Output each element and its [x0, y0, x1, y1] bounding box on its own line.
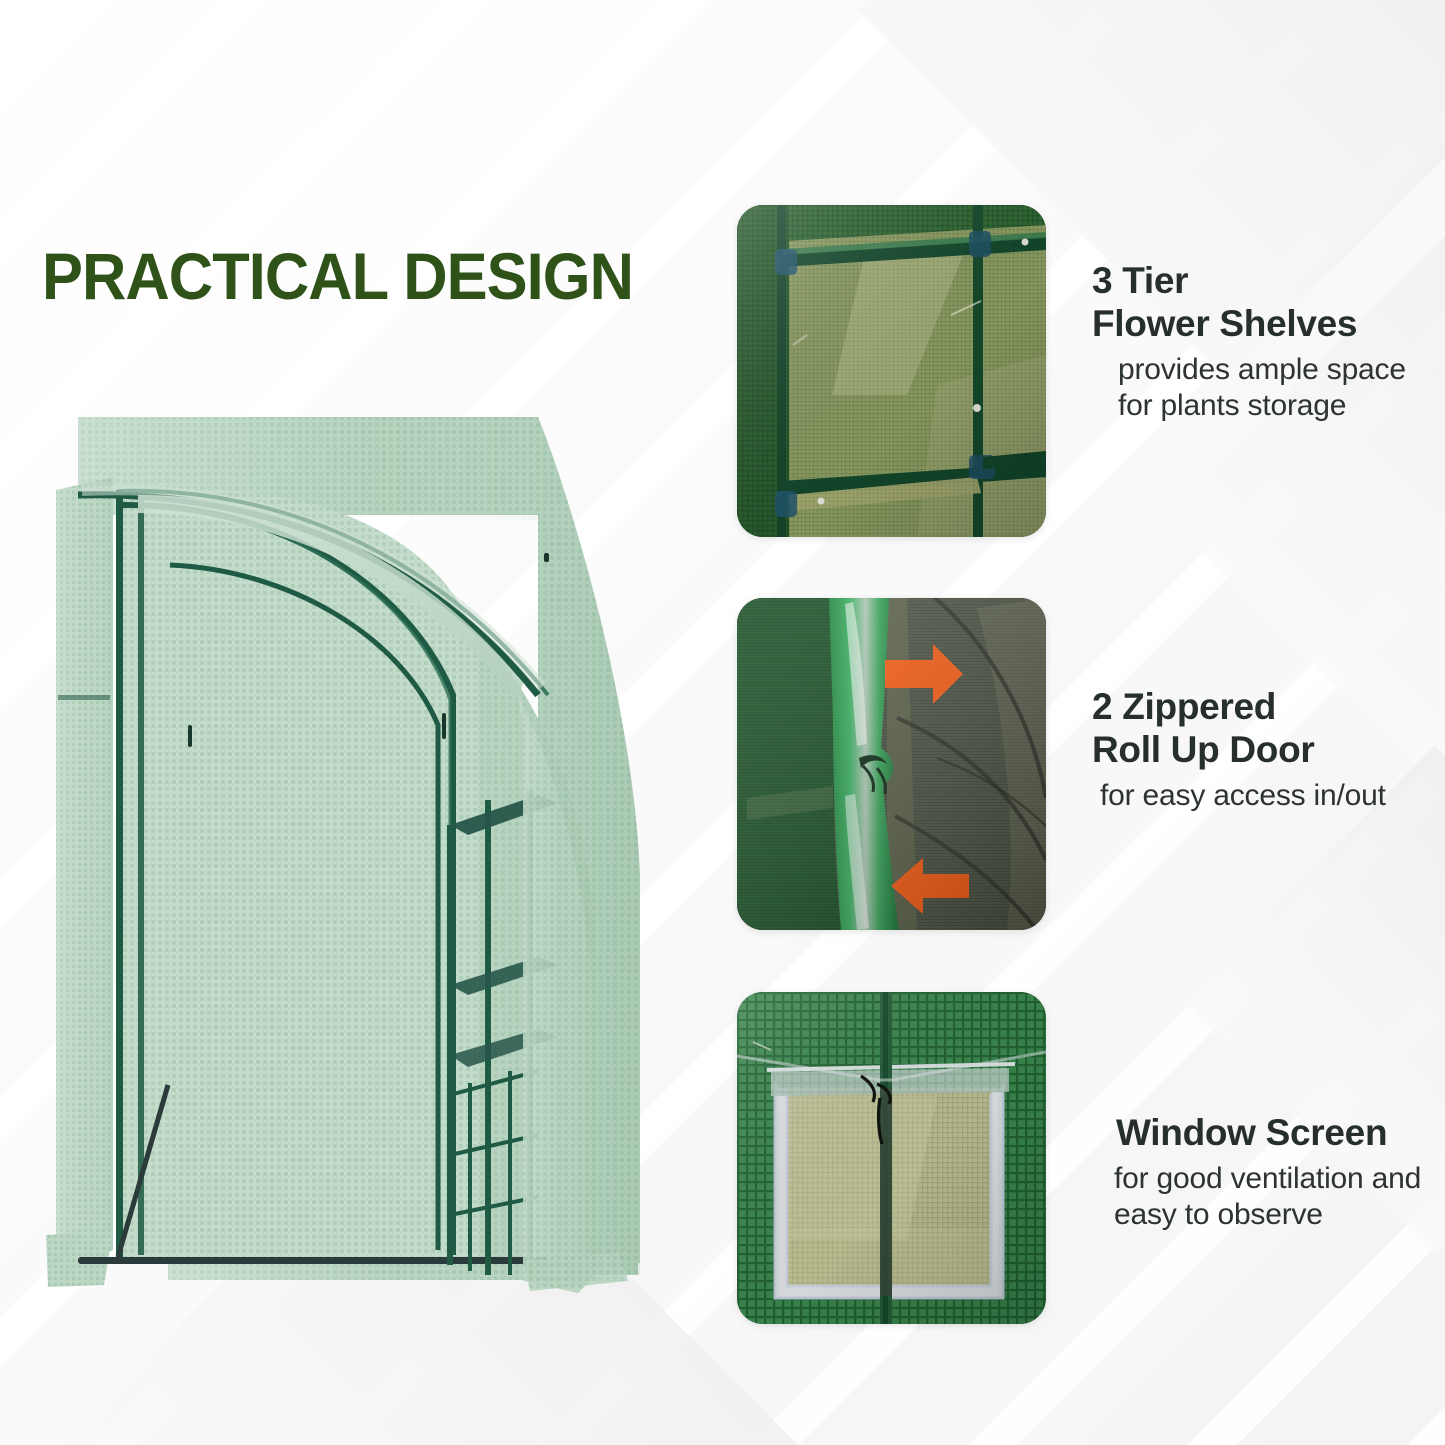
feature-block-door: 2 Zippered Roll Up Door for easy access …	[737, 598, 1437, 930]
feature-block-shelves: 3 Tier Flower Shelves provides ample spa…	[737, 205, 1437, 537]
infographic-canvas: PRACTICAL DESIGN	[0, 0, 1445, 1445]
feature-text-door: 2 Zippered Roll Up Door for easy access …	[1092, 686, 1437, 814]
feature-heading: Window Screen	[1092, 1112, 1437, 1155]
photo-zippered-roll-up-door[interactable]	[737, 598, 1046, 930]
feature-text-window: Window Screen for good ventilation and e…	[1092, 1112, 1437, 1233]
feature-subtext: for good ventilation and easy to observe	[1092, 1161, 1437, 1233]
photo-3-tier-flower-shelves[interactable]	[737, 205, 1046, 537]
photo-window-screen[interactable]	[737, 992, 1046, 1324]
feature-subtext: for easy access in/out	[1092, 778, 1437, 814]
feature-heading: 3 Tier Flower Shelves	[1092, 260, 1437, 346]
feature-subtext: provides ample space for plants storage	[1092, 352, 1437, 424]
feature-heading: 2 Zippered Roll Up Door	[1092, 686, 1437, 772]
page-title: PRACTICAL DESIGN	[42, 243, 633, 309]
product-image-lean-to-greenhouse	[18, 395, 718, 1305]
feature-block-window: Window Screen for good ventilation and e…	[737, 992, 1437, 1324]
feature-text-shelves: 3 Tier Flower Shelves provides ample spa…	[1092, 260, 1437, 424]
